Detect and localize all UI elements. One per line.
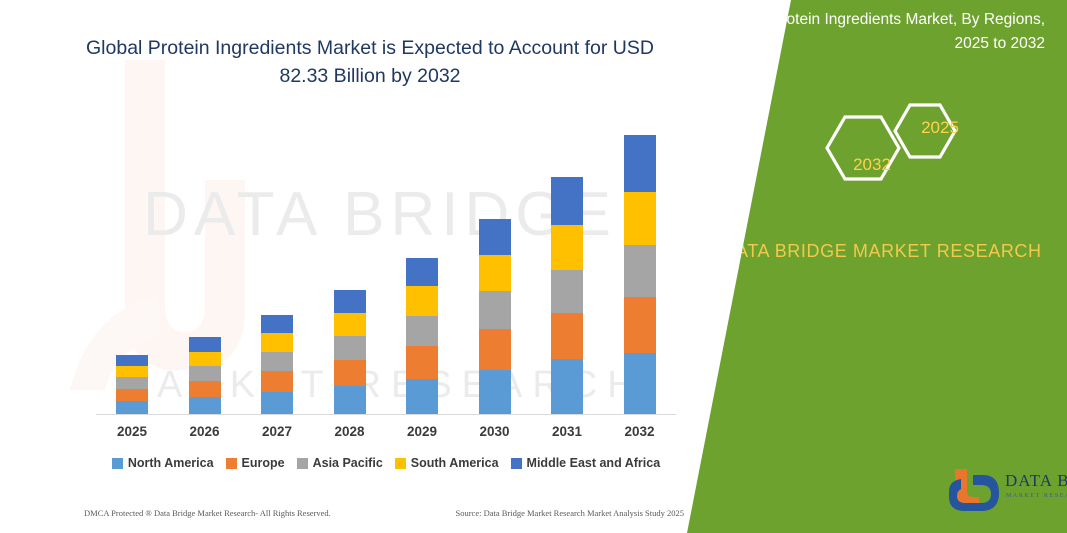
bar-segment-south-america-2031 [551,225,583,271]
x-axis-line [96,414,676,415]
x-axis-label-2027: 2027 [241,424,313,439]
bar-segment-asia-pacific-2027 [261,352,293,371]
bar-segment-north-america-2025 [116,401,148,414]
bar-segment-south-america-2027 [261,333,293,352]
hexagon-group: 2025 2032 [797,93,1067,203]
x-axis-label-2031: 2031 [531,424,603,439]
data-bridge-logo: DATA BRIDGE MARKET RESEARCH [945,467,1067,515]
bar-segment-middle-east-and-africa-2031 [551,177,583,225]
stacked-bar-2025[interactable] [116,355,148,414]
stacked-bar-2029[interactable] [406,258,438,414]
bar-segment-south-america-2028 [334,313,366,336]
stacked-bar-2030[interactable] [479,219,511,414]
x-axis-label-2025: 2025 [96,424,168,439]
bar-group-2030 [459,110,531,414]
logo-wordmark: DATA BRIDGE [1005,471,1067,491]
legend-label: Europe [242,456,285,470]
legend-swatch-icon [395,458,406,469]
legend-item-north-america[interactable]: North America [112,456,214,470]
bar-segment-middle-east-and-africa-2032 [624,135,656,192]
bar-segment-europe-2025 [116,389,148,401]
hexagon-2025-label: 2025 [905,118,975,138]
legend-item-europe[interactable]: Europe [226,456,285,470]
bar-segment-middle-east-and-africa-2025 [116,355,148,366]
bar-segment-middle-east-and-africa-2029 [406,258,438,287]
infographic-root: DATA BRIDGE MARKET RESEARCH Global Prote… [0,0,1067,533]
bar-segment-europe-2027 [261,371,293,392]
bar-group-2031 [531,110,603,414]
footer: DMCA Protected ® Data Bridge Market Rese… [84,508,684,518]
bar-segment-asia-pacific-2030 [479,291,511,329]
legend-label: Asia Pacific [313,456,383,470]
bar-group-2029 [386,110,458,414]
x-axis-label-2032: 2032 [604,424,676,439]
bar-segment-north-america-2028 [334,386,366,414]
footer-copyright: DMCA Protected ® Data Bridge Market Rese… [84,508,331,518]
bar-segment-north-america-2027 [261,392,293,414]
bar-segment-south-america-2026 [189,352,221,367]
bar-segment-europe-2031 [551,313,583,359]
hexagon-svg [797,93,1067,203]
stacked-bar-2032[interactable] [624,135,656,414]
legend-item-middle-east-and-africa[interactable]: Middle East and Africa [511,456,661,470]
x-axis-label-2029: 2029 [386,424,458,439]
stacked-bar-2026[interactable] [189,337,221,414]
bar-segment-europe-2029 [406,346,438,378]
bar-segment-europe-2028 [334,360,366,386]
bar-segment-asia-pacific-2025 [116,377,148,388]
chart-panel: DATA BRIDGE MARKET RESEARCH Global Prote… [0,0,760,533]
logo-subtext: MARKET RESEARCH [1006,493,1067,499]
bar-segment-south-america-2025 [116,366,148,377]
legend-swatch-icon [297,458,308,469]
bar-segment-south-america-2030 [479,255,511,291]
x-axis-label-2030: 2030 [459,424,531,439]
bar-group-2028 [314,110,386,414]
bar-segment-north-america-2032 [624,353,656,414]
bar-segment-middle-east-and-africa-2028 [334,290,366,313]
logo-mark-icon [945,467,1001,513]
bar-segment-asia-pacific-2032 [624,245,656,297]
bar-segment-middle-east-and-africa-2026 [189,337,221,351]
chart-legend: North AmericaEuropeAsia PacificSouth Ame… [96,456,676,470]
bar-segment-europe-2030 [479,329,511,370]
brand-name: DATA BRIDGE MARKET RESEARCH [717,238,1047,265]
chart-title: Global Protein Ingredients Market is Exp… [60,34,680,90]
x-axis-label-2028: 2028 [314,424,386,439]
bar-segment-asia-pacific-2031 [551,270,583,313]
bar-group-2032 [604,110,676,414]
bar-segment-north-america-2029 [406,379,438,414]
legend-swatch-icon [112,458,123,469]
legend-item-south-america[interactable]: South America [395,456,499,470]
bar-segment-europe-2026 [189,381,221,397]
chart-plot-area [96,110,676,415]
x-axis-label-2026: 2026 [169,424,241,439]
hexagon-2032-label: 2032 [837,155,907,175]
legend-label: South America [411,456,499,470]
bar-segment-middle-east-and-africa-2030 [479,219,511,254]
bar-segment-south-america-2032 [624,192,656,245]
x-axis-labels: 20252026202720282029203020312032 [96,424,676,444]
stacked-bar-2031[interactable] [551,177,583,414]
bar-segment-asia-pacific-2026 [189,366,221,381]
bar-group-2025 [96,110,168,414]
bar-segment-north-america-2031 [551,359,583,414]
legend-item-asia-pacific[interactable]: Asia Pacific [297,456,383,470]
bar-group-2026 [169,110,241,414]
legend-label: Middle East and Africa [527,456,661,470]
bar-segment-north-america-2030 [479,370,511,414]
footer-source: Source: Data Bridge Market Research Mark… [455,508,684,518]
bar-segment-asia-pacific-2028 [334,336,366,360]
bar-segment-north-america-2026 [189,397,221,414]
stacked-bar-2027[interactable] [261,315,293,414]
stacked-bar-2028[interactable] [334,290,366,414]
side-panel-title: Global Protein Ingredients Market, By Re… [715,8,1045,56]
legend-label: North America [128,456,214,470]
legend-swatch-icon [226,458,237,469]
bar-segment-europe-2032 [624,297,656,353]
bar-segment-middle-east-and-africa-2027 [261,315,293,333]
bar-segment-asia-pacific-2029 [406,316,438,346]
bar-group-2027 [241,110,313,414]
bar-segment-south-america-2029 [406,286,438,315]
legend-swatch-icon [511,458,522,469]
